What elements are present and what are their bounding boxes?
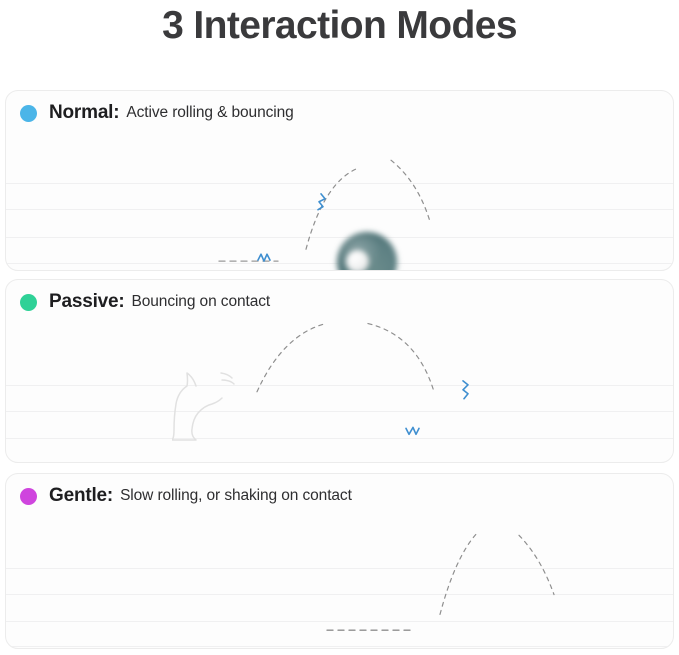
- mode-card-gentle[interactable]: Gentle: Slow rolling, or shaking on cont…: [5, 473, 674, 649]
- mode-header-gentle: Gentle: Slow rolling, or shaking on cont…: [20, 485, 352, 507]
- mode-header-normal: Normal: Active rolling & bouncing: [20, 102, 294, 124]
- interaction-modes-page: 3 Interaction Modes Normal: Active rolli…: [0, 0, 679, 655]
- mode-name-gentle: Gentle:: [49, 485, 113, 507]
- mode-card-passive[interactable]: Passive: Bouncing on contact: [5, 279, 674, 463]
- mode-dot-icon-gentle: [20, 488, 37, 505]
- mode-description-gentle: Slow rolling, or shaking on contact: [120, 487, 352, 505]
- cat-outline-icon-passive: [172, 366, 238, 442]
- mode-dot-icon-normal: [20, 105, 37, 122]
- mode-description-normal: Active rolling & bouncing: [126, 104, 293, 122]
- mode-dot-icon-passive: [20, 294, 37, 311]
- mode-name-normal: Normal:: [49, 102, 119, 124]
- page-title: 3 Interaction Modes: [0, 4, 679, 48]
- mode-card-normal[interactable]: Normal: Active rolling & bouncing: [5, 90, 674, 271]
- mode-header-passive: Passive: Bouncing on contact: [20, 291, 270, 313]
- mode-description-passive: Bouncing on contact: [132, 293, 271, 311]
- mode-name-passive: Passive:: [49, 291, 125, 313]
- toy-ball-normal-3: [337, 232, 397, 271]
